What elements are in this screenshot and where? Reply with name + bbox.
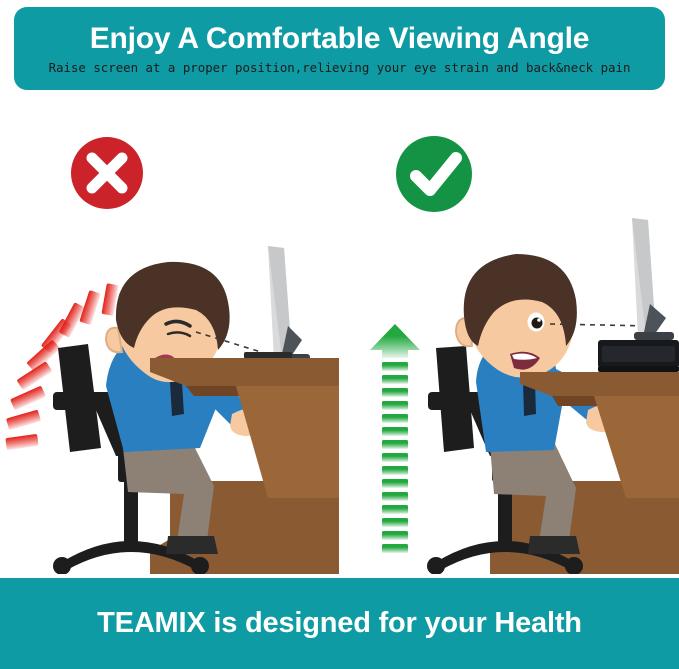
page-title: Enjoy A Comfortable Viewing Angle (90, 22, 590, 56)
section-divider (0, 574, 679, 576)
footer-banner: TEAMIX is designed for your Health (0, 578, 679, 669)
keyboard-left (244, 352, 292, 359)
page-subtitle: Raise screen at a proper position,reliev… (49, 60, 631, 76)
raise-arrow-icon (370, 324, 420, 553)
infographic-page: Enjoy A Comfortable Viewing Angle Raise … (0, 0, 679, 669)
header-banner: Enjoy A Comfortable Viewing Angle Raise … (14, 7, 665, 90)
panel-incorrect-posture (0, 96, 339, 574)
monitor-riser-stand (598, 340, 679, 372)
monitor-left (268, 246, 310, 362)
monitor-right (632, 218, 674, 340)
cross-badge-icon (71, 137, 143, 209)
check-badge-icon (396, 136, 472, 212)
brand-tagline: TEAMIX is designed for your Health (97, 607, 582, 640)
illustration-stage (0, 96, 679, 574)
panel-correct-posture (340, 96, 679, 574)
